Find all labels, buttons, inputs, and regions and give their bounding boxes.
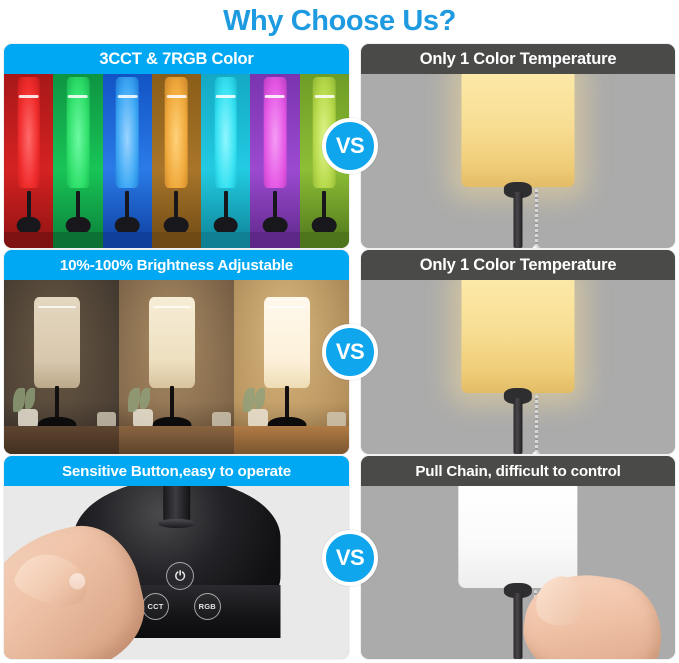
row-1-con-image — [361, 74, 675, 248]
row-3-pro-image: ⏻ CCT RGB — [4, 486, 349, 659]
rgb-lamp-red — [4, 74, 53, 248]
rgb-lamp-cyan — [201, 74, 250, 248]
row-3-pro-panel: Sensitive Button,easy to operate ⏻ CCT R… — [4, 456, 349, 659]
warm-lamp-shade — [461, 280, 574, 393]
white-lamp-shade — [458, 486, 577, 588]
brightness-lamp-strip — [4, 280, 349, 454]
row-3-con-panel: Pull Chain, difficult to control — [361, 456, 675, 659]
rgb-button[interactable]: RGB — [194, 593, 221, 620]
rgb-lamp-blue — [103, 74, 152, 248]
warm-lamp-shade — [461, 74, 574, 187]
brightness-step-55 — [119, 280, 234, 454]
row-2-con-panel: Only 1 Color Temperature — [361, 250, 675, 454]
fingernail — [66, 569, 89, 592]
row-3-con-image — [361, 486, 675, 659]
index-finger — [11, 547, 94, 612]
row-2-con-header: Only 1 Color Temperature — [361, 250, 675, 280]
comparison-rows: 3CCT & 7RGB Color — [4, 44, 675, 661]
row-2-pro-panel: 10%-100% Brightness Adjustable — [4, 250, 349, 454]
brightness-step-10 — [4, 280, 119, 454]
rgb-lamp-amber — [152, 74, 201, 248]
row-2-con-image — [361, 280, 675, 454]
vs-badge-1: VS — [322, 118, 378, 174]
row-1-pro-panel: 3CCT & 7RGB Color — [4, 44, 349, 248]
comparison-row-2: 10%-100% Brightness Adjustable — [4, 250, 675, 454]
row-2-pro-image — [4, 280, 349, 454]
rgb-lamp-green — [53, 74, 102, 248]
row-3-pro-header: Sensitive Button,easy to operate — [4, 456, 349, 486]
rgb-lamp-strip — [4, 74, 349, 248]
infographic-root: Why Choose Us? 3CCT & 7RGB Color — [0, 0, 679, 663]
row-1-pro-header: 3CCT & 7RGB Color — [4, 44, 349, 74]
rgb-lamp-magenta — [250, 74, 299, 248]
comparison-row-3: Sensitive Button,easy to operate ⏻ CCT R… — [4, 456, 675, 659]
row-1-con-header: Only 1 Color Temperature — [361, 44, 675, 74]
page-title: Why Choose Us? — [0, 0, 679, 42]
row-1-con-panel: Only 1 Color Temperature — [361, 44, 675, 248]
comparison-row-1: 3CCT & 7RGB Color — [4, 44, 675, 248]
row-2-pro-header: 10%-100% Brightness Adjustable — [4, 250, 349, 280]
vs-badge-2: VS — [322, 324, 378, 380]
row-1-pro-image — [4, 74, 349, 248]
row-3-con-header: Pull Chain, difficult to control — [361, 456, 675, 486]
vs-badge-3: VS — [322, 530, 378, 586]
